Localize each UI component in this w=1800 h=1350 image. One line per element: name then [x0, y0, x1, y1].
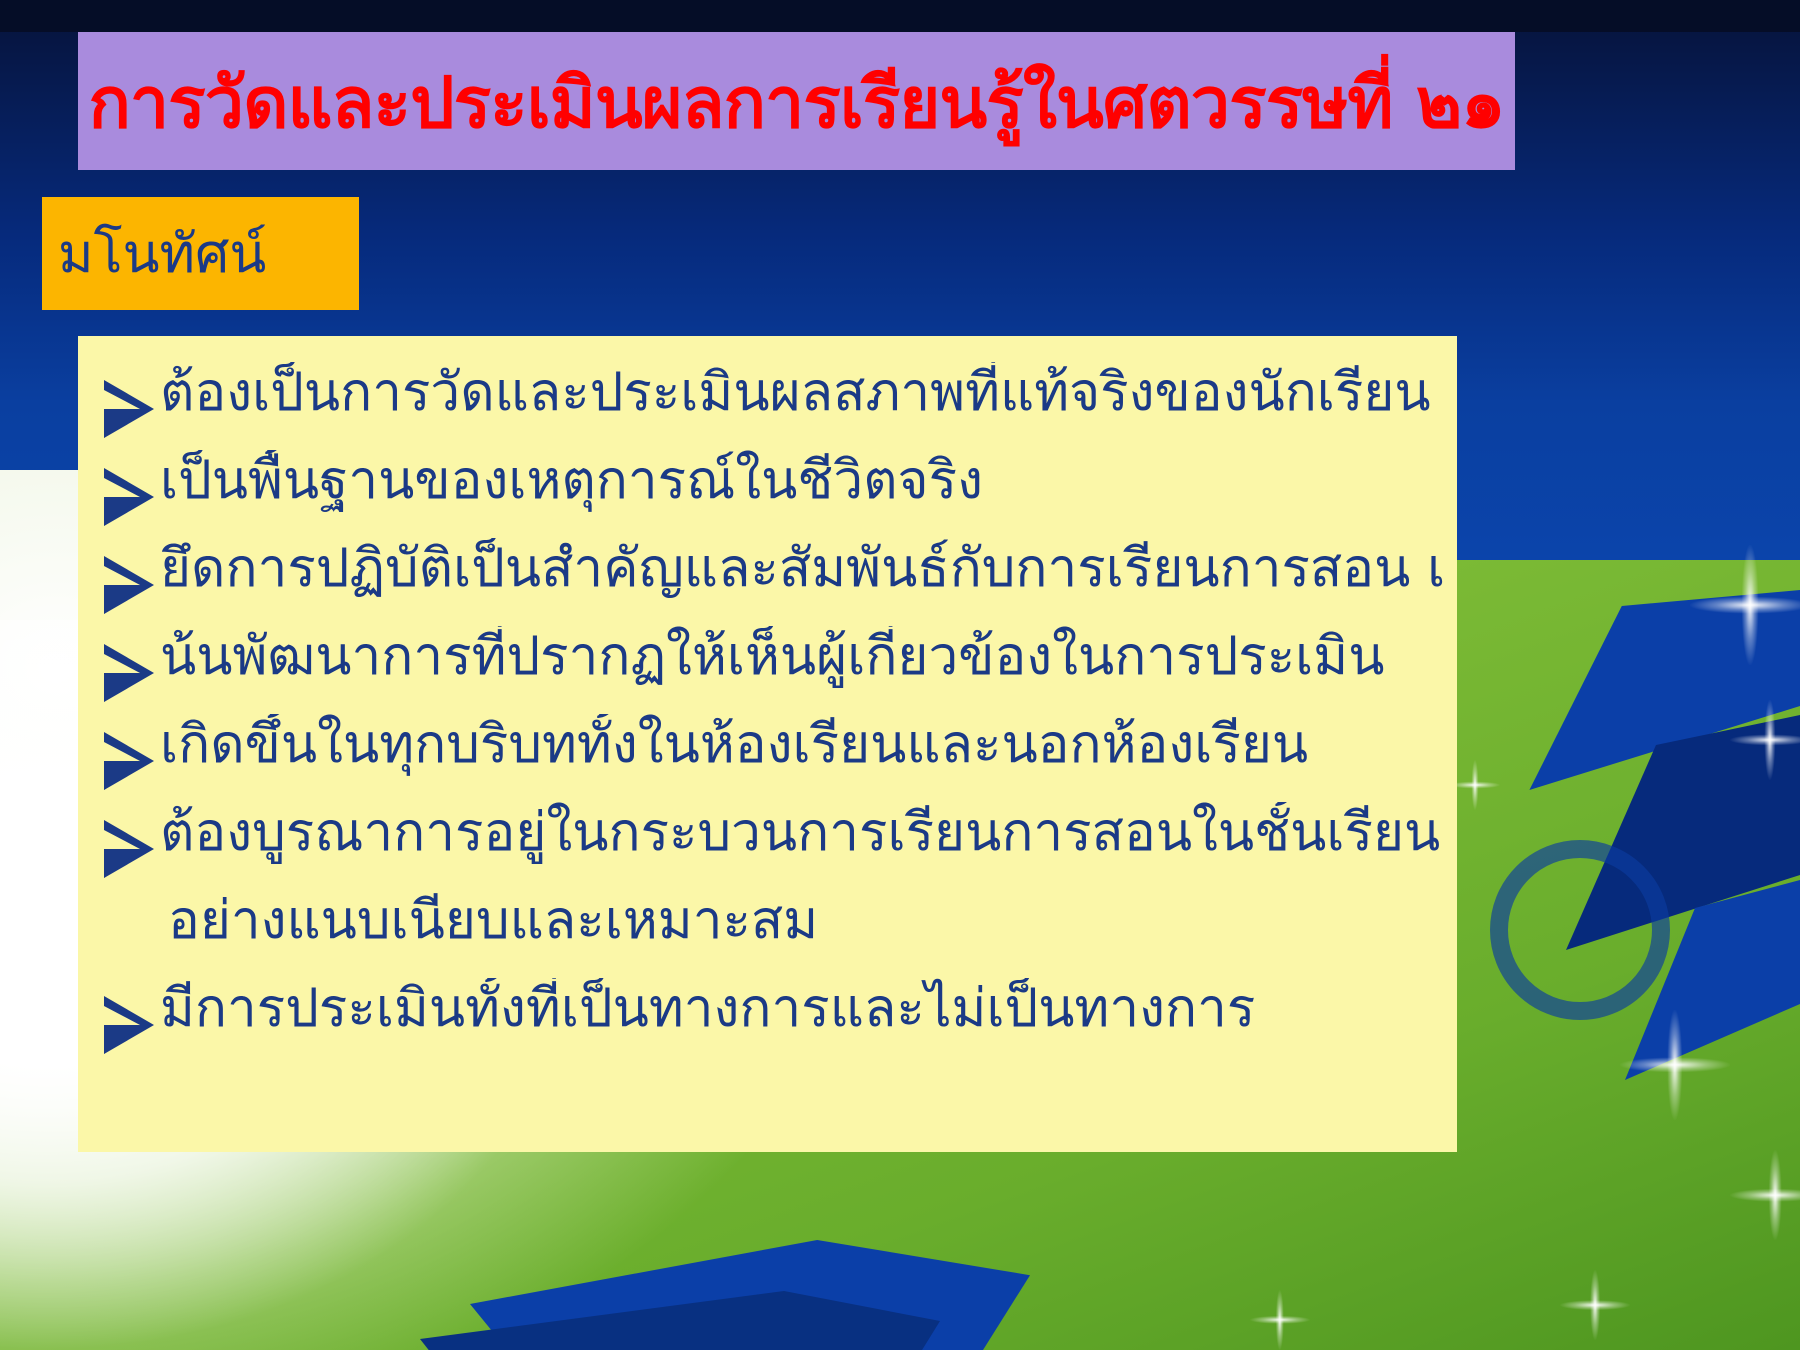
- bullet-item-5: เกิดขึ้นในทุกบริบททั้งในห้องเรียนและนอกห…: [78, 714, 1457, 802]
- slide-canvas: การวัดและประเมินผลการเรียนรู้ในศตวรรษที่…: [0, 0, 1800, 1350]
- bullet-item-7: อย่างแนบเนียบและเหมาะสม: [78, 890, 1457, 978]
- bullet-item-1: ต้องเป็นการวัดและประเมินผลสภาพที่แท้จริง…: [78, 362, 1457, 450]
- bullet-list: ต้องเป็นการวัดและประเมินผลสภาพที่แท้จริง…: [78, 362, 1457, 1066]
- list-item-label: น้นพัฒนาการที่ปรากฏให้เห็นผู้เกี่ยวข้องใ…: [160, 626, 1384, 689]
- background-top-band: [0, 0, 1800, 32]
- arrow-bullet-icon: [100, 376, 158, 442]
- bullet-item-6: ต้องบูรณาการอยู่ในกระบวนการเรียนการสอนใน…: [78, 802, 1457, 890]
- section-label-text: มโนทัศน์: [42, 224, 266, 283]
- arrow-bullet-icon: [100, 464, 158, 530]
- bullet-item-3: ยึดการปฏิบัติเป็นสำคัญและสัมพันธ์กับการเ…: [78, 538, 1457, 626]
- arrow-bullet-icon: [100, 992, 158, 1058]
- bullet-item-2: เป็นพื้นฐานของเหตุการณ์ในชีวิตจริง: [78, 450, 1457, 538]
- arrow-bullet-icon: [100, 816, 158, 882]
- list-item-label: เกิดขึ้นในทุกบริบททั้งในห้องเรียนและนอกห…: [160, 714, 1308, 777]
- list-item-label: ต้องบูรณาการอยู่ในกระบวนการเรียนการสอนใน…: [160, 802, 1440, 865]
- decor-ring: [1490, 840, 1670, 1020]
- arrow-bullet-icon: [100, 728, 158, 794]
- section-label-box: มโนทัศน์: [42, 197, 359, 310]
- list-item-label: มีการประเมินทั้งที่เป็นทางการและไม่เป็นท…: [160, 978, 1255, 1041]
- bullet-item-4: น้นพัฒนาการที่ปรากฏให้เห็นผู้เกี่ยวข้องใ…: [78, 626, 1457, 714]
- list-item-label: อย่างแนบเนียบและเหมาะสม: [168, 890, 818, 953]
- arrow-bullet-icon: [100, 552, 158, 618]
- arrow-bullet-icon: [100, 640, 158, 706]
- slide-title-bar: การวัดและประเมินผลการเรียนรู้ในศตวรรษที่…: [78, 32, 1515, 170]
- bullet-item-8: มีการประเมินทั้งที่เป็นทางการและไม่เป็นท…: [78, 978, 1457, 1066]
- list-item-label: ต้องเป็นการวัดและประเมินผลสภาพที่แท้จริง…: [160, 362, 1431, 425]
- page-title: การวัดและประเมินผลการเรียนรู้ในศตวรรษที่…: [88, 68, 1504, 138]
- content-panel: ต้องเป็นการวัดและประเมินผลสภาพที่แท้จริง…: [78, 336, 1457, 1152]
- list-item-label: ยึดการปฏิบัติเป็นสำคัญและสัมพันธ์กับการเ…: [160, 538, 1445, 601]
- list-item-label: เป็นพื้นฐานของเหตุการณ์ในชีวิตจริง: [160, 450, 983, 513]
